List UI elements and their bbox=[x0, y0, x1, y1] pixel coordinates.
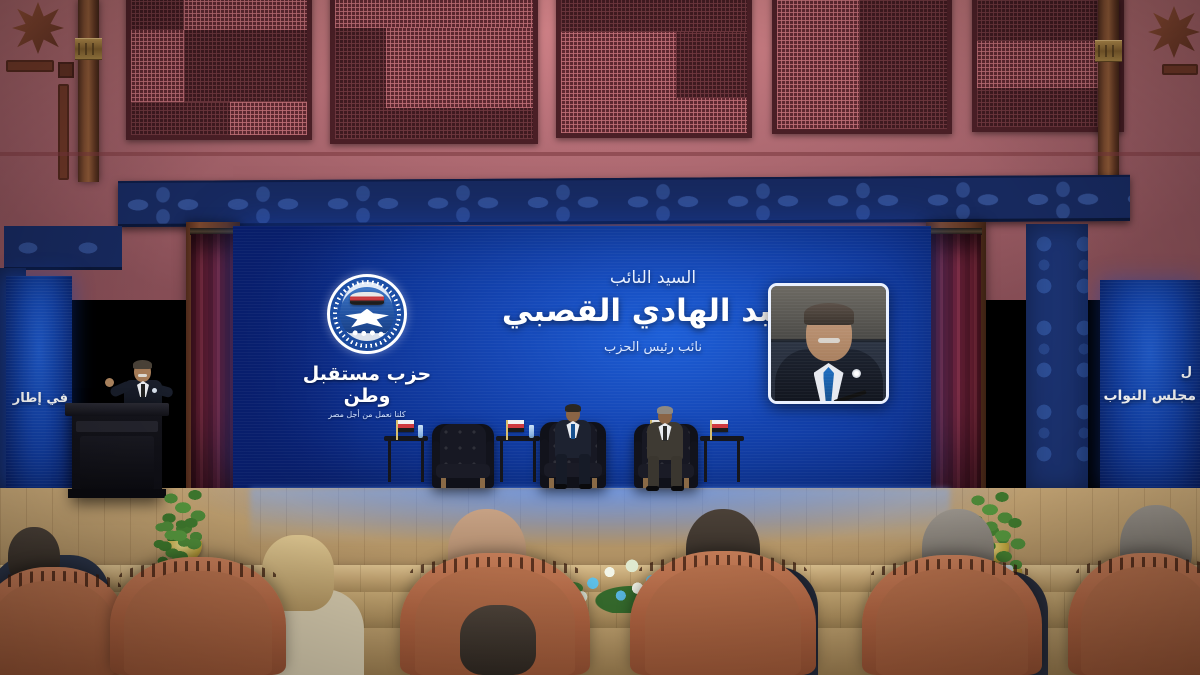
stage-curtain-right bbox=[931, 234, 981, 488]
water-bottle bbox=[529, 425, 534, 438]
audience-chair bbox=[110, 557, 286, 675]
side-table bbox=[384, 436, 428, 482]
party-name-label: حزب مستقبل وطن bbox=[297, 363, 437, 407]
party-logo-block: حزب مستقبل وطن كلنا نعمل من أجل مصر bbox=[297, 274, 437, 419]
audience-head bbox=[460, 605, 536, 675]
mashrabiya-lattice-panel bbox=[126, 0, 312, 140]
wall-ledge bbox=[0, 152, 1200, 156]
egypt-flag-icon bbox=[508, 420, 524, 432]
mashrabiya-lattice-panel bbox=[772, 0, 952, 134]
stage-arabesque-band-left bbox=[4, 226, 122, 270]
mashrabiya-lattice-panel bbox=[330, 0, 538, 144]
speaker-portrait-photo bbox=[768, 283, 889, 404]
mashrabiya-lattice-panel bbox=[556, 0, 752, 138]
stage-curtain-left bbox=[191, 234, 235, 488]
side-banner-left: في إطار bbox=[6, 276, 72, 490]
party-emblem-icon bbox=[327, 274, 407, 354]
empty-armchair bbox=[432, 424, 494, 488]
gesturing-hand bbox=[105, 378, 114, 387]
stage-arabesque-band bbox=[118, 175, 1130, 227]
water-bottle bbox=[418, 425, 423, 438]
audience-chair bbox=[1068, 553, 1200, 675]
side-banner-right: ل مجلس النواب bbox=[1100, 280, 1200, 490]
audience-chair bbox=[862, 555, 1042, 675]
side-banner-left-text: في إطار bbox=[13, 391, 68, 406]
lapel-pin-icon bbox=[852, 369, 861, 378]
egypt-flag-icon bbox=[398, 420, 414, 432]
conference-hall-scene: في إطار ل مجلس النواب حزب مستقبل وطن كلن… bbox=[0, 0, 1200, 675]
side-banner-right-line1: ل bbox=[1181, 365, 1192, 380]
wood-diamond-ornament bbox=[58, 62, 74, 78]
wood-trim-bar bbox=[58, 84, 69, 180]
speaker-role-label: نائب رئيس الحزب bbox=[513, 340, 793, 355]
seated-panelist-center bbox=[552, 406, 594, 490]
egypt-flag-icon bbox=[712, 420, 728, 432]
title-prefix-label: السيد النائب bbox=[513, 268, 793, 288]
side-banner-right-line2: مجلس النواب bbox=[1103, 388, 1196, 404]
side-table bbox=[700, 436, 744, 482]
seated-panelist-right bbox=[644, 408, 686, 490]
audience-chair bbox=[630, 551, 816, 675]
party-tagline-label: كلنا نعمل من أجل مصر bbox=[297, 410, 437, 419]
wood-trim-bar bbox=[1162, 64, 1198, 75]
speaking-podium bbox=[72, 403, 162, 498]
lapel-pin-icon bbox=[152, 388, 157, 393]
led-title-block: السيد النائب عبد الهادي القصبي نائب رئيس… bbox=[513, 268, 793, 355]
side-table bbox=[496, 436, 540, 482]
audience-chair bbox=[0, 567, 128, 675]
speaker-name-label: عبد الهادي القصبي bbox=[513, 293, 793, 329]
side-arabesque-panel-right bbox=[1026, 224, 1088, 492]
wood-trim-bar bbox=[6, 60, 54, 72]
